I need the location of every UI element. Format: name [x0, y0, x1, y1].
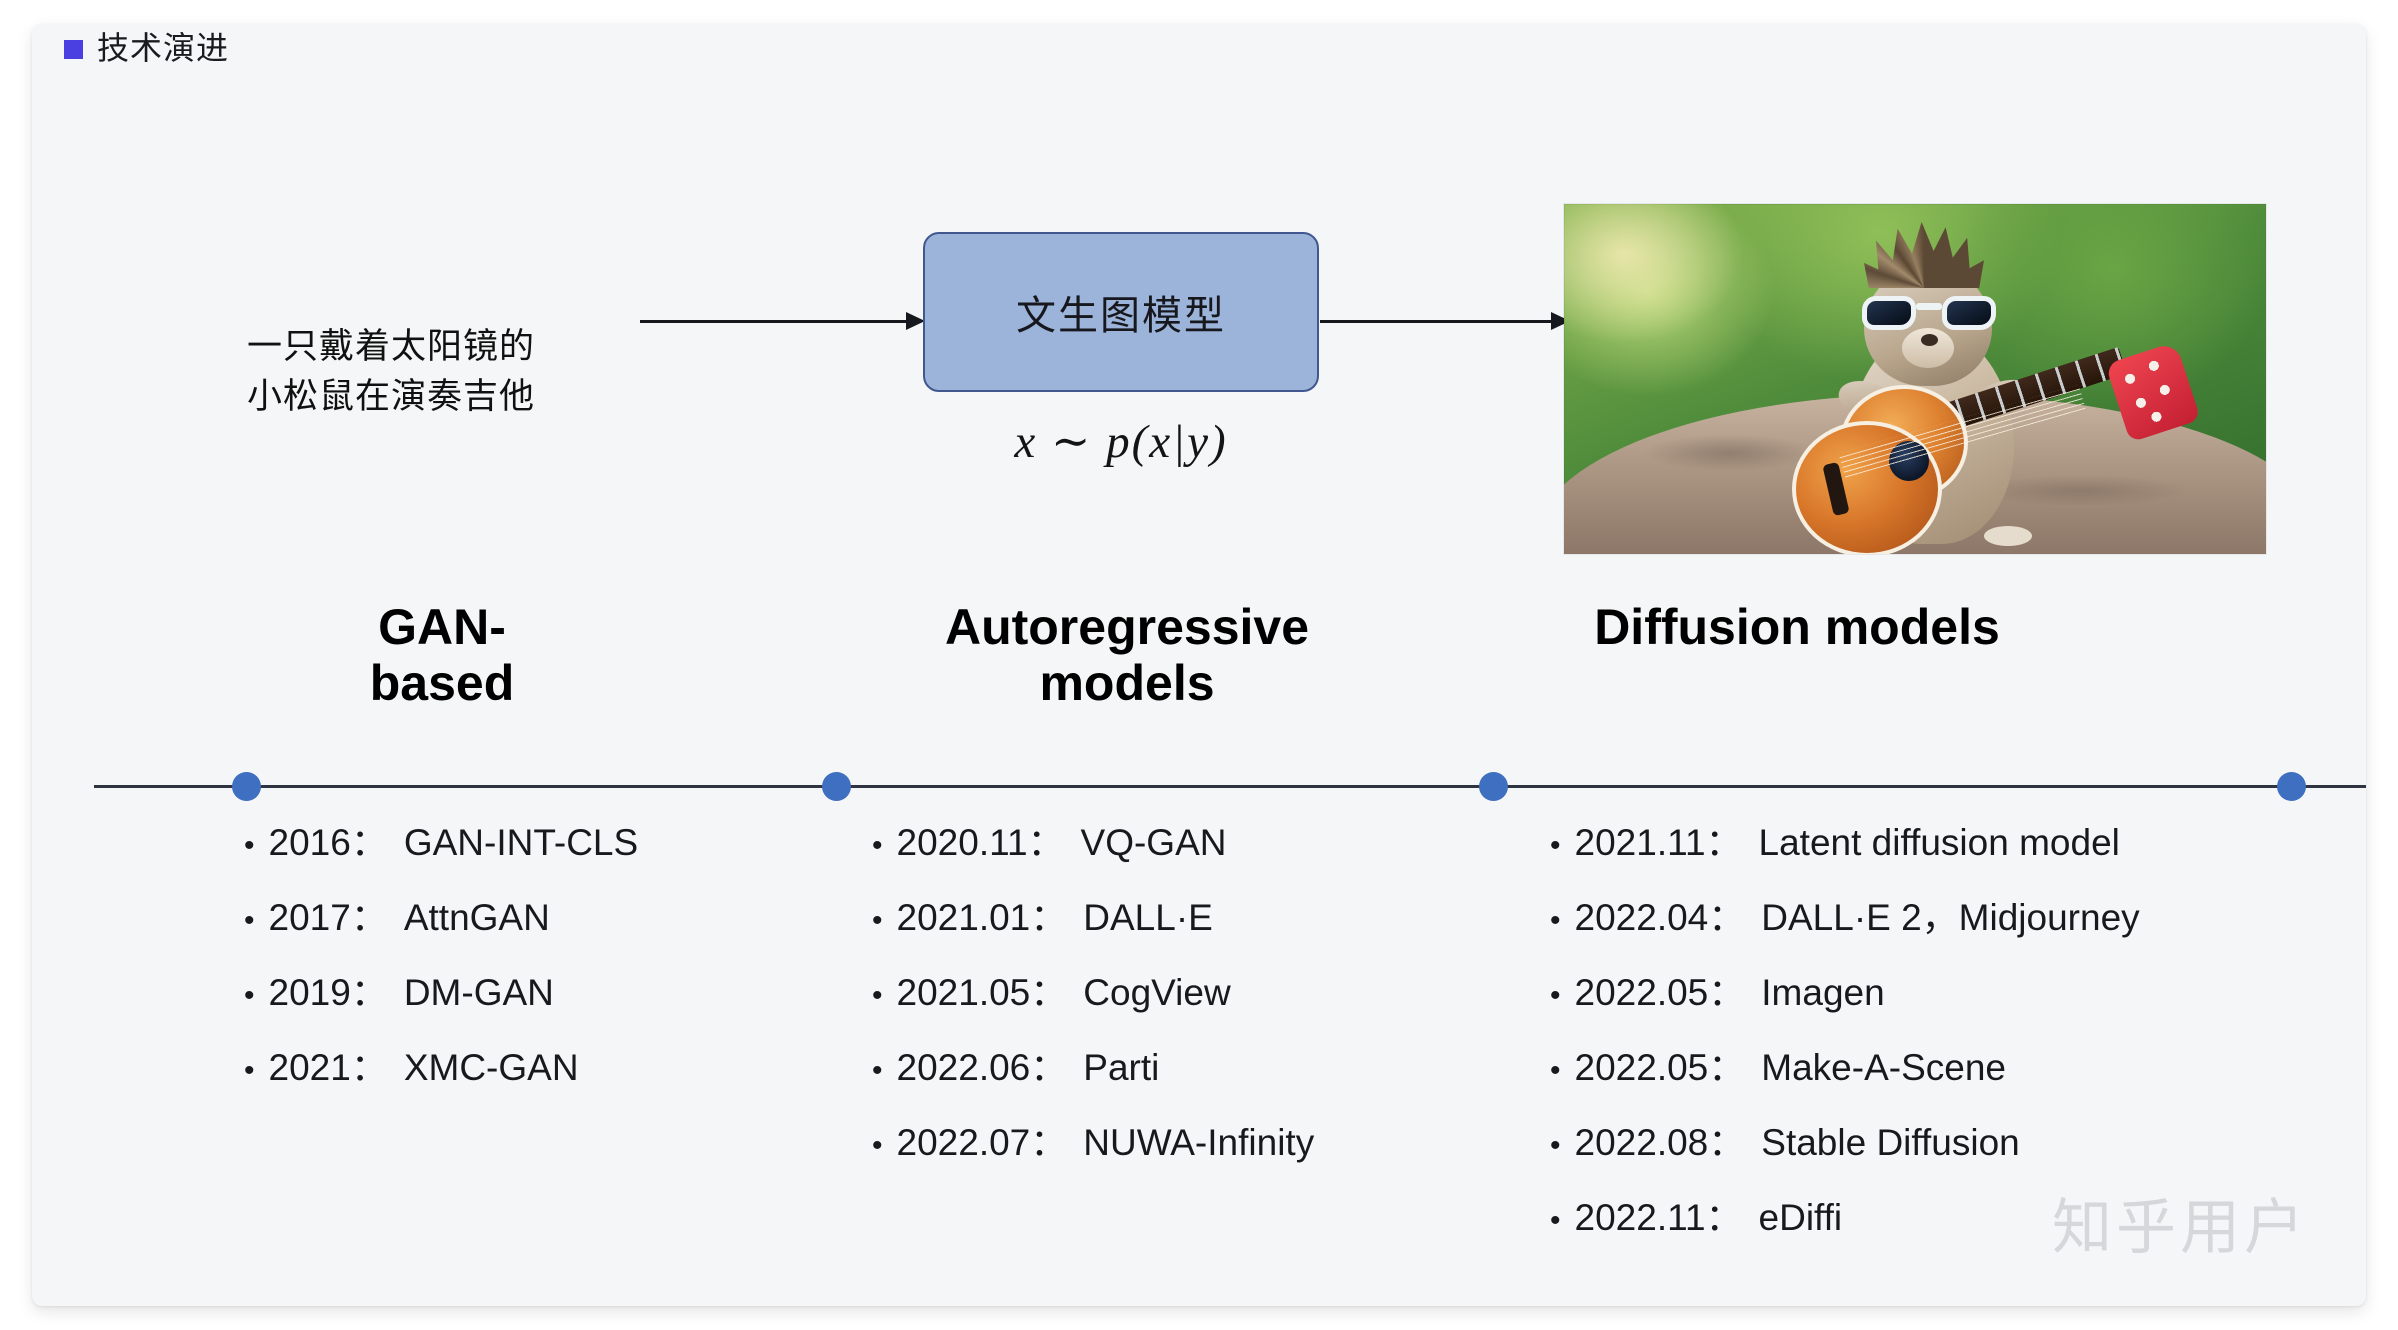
list-item-date: 2021.11： — [1575, 824, 1743, 861]
list-item-name: GAN-INT-CLS — [404, 824, 638, 861]
list-item: • 2022.08： Stable Diffusion — [1550, 1124, 2350, 1161]
list-item-name: VQ-GAN — [1081, 824, 1227, 861]
list-item-name: Stable Diffusion — [1761, 1124, 2019, 1161]
list-item-name: AttnGAN — [404, 899, 550, 936]
squirrel-nose — [1921, 334, 1938, 346]
list-item-date: 2016： — [269, 824, 388, 861]
generated-image — [1564, 204, 2266, 554]
model-formula: x ∼ p(x|y) — [923, 414, 1319, 469]
list-bullet-icon: • — [872, 1056, 883, 1086]
prompt-text: 一只戴着太阳镜的 小松鼠在演奏吉他 — [247, 322, 627, 421]
list-item: • 2022.05： Imagen — [1550, 974, 2350, 1011]
list-item: • 2022.06： Parti — [872, 1049, 1522, 1086]
arrow-right-icon-prompt-to-model — [640, 310, 925, 332]
list-bullet-icon: • — [872, 906, 883, 936]
list-item: • 2021.01： DALL·E — [872, 899, 1522, 936]
list-bullet-icon: • — [244, 981, 255, 1011]
sunglasses-bridge — [1916, 303, 1942, 310]
list-item-name: Latent diffusion model — [1759, 824, 2120, 861]
model-box-label: 文生图模型 — [1016, 283, 1226, 341]
list-bullet-icon: • — [244, 906, 255, 936]
list-item: • 2022.04： DALL·E 2，Midjourney — [1550, 899, 2350, 936]
title-bullet-square-icon — [64, 40, 83, 59]
prompt-line-2: 小松鼠在演奏吉他 — [247, 372, 627, 422]
list-bullet-icon: • — [244, 831, 255, 861]
list-item-name: DM-GAN — [404, 974, 554, 1011]
timeline-column-gan: • 2016： GAN-INT-CLS • 2017： AttnGAN • 20… — [244, 824, 764, 1124]
watermark: 知乎用户 — [2052, 1179, 2308, 1266]
list-item-date: 2020.11： — [897, 824, 1065, 861]
timeline-axis — [94, 785, 2366, 788]
formula-tilde: ∼ — [1051, 416, 1092, 468]
list-bullet-icon: • — [1550, 831, 1561, 861]
list-bullet-icon: • — [1550, 906, 1561, 936]
list-bullet-icon: • — [1550, 981, 1561, 1011]
list-item-name: eDiffi — [1759, 1199, 1843, 1236]
formula-p: p(x|y) — [1106, 416, 1227, 468]
model-box: 文生图模型 — [923, 232, 1319, 392]
timeline-headings: GAN-based Autoregressive models Diffusio… — [32, 599, 2366, 754]
arrow-shaft — [1320, 320, 1553, 323]
timeline-heading-gan: GAN-based — [342, 599, 542, 711]
list-item: • 2021： XMC-GAN — [244, 1049, 764, 1086]
arrow-right-icon-model-to-image — [1320, 310, 1570, 332]
formula-x: x — [1014, 416, 1037, 468]
list-item-date: 2022.06： — [897, 1049, 1068, 1086]
slide-title: 技术演进 — [64, 32, 229, 64]
list-bullet-icon: • — [244, 1056, 255, 1086]
list-item-name: DALL·E 2，Midjourney — [1761, 899, 2139, 936]
list-item: • 2022.07： NUWA-Infinity — [872, 1124, 1522, 1161]
list-item-name: NUWA-Infinity — [1083, 1124, 1314, 1161]
timeline-dot-1 — [232, 772, 261, 801]
list-item: • 2020.11： VQ-GAN — [872, 824, 1522, 861]
list-bullet-icon: • — [1550, 1131, 1561, 1161]
list-item-name: Imagen — [1761, 974, 1884, 1011]
sunglasses-lens-right — [1942, 296, 1996, 330]
list-item-name: XMC-GAN — [404, 1049, 579, 1086]
page-title: 技术演进 — [97, 32, 229, 64]
pipeline-diagram: 一只戴着太阳镜的 小松鼠在演奏吉他 文生图模型 x ∼ p(x|y) — [32, 84, 2366, 504]
list-item-name: Parti — [1083, 1049, 1159, 1086]
list-item-date: 2022.05： — [1575, 974, 1746, 1011]
list-item: • 2016： GAN-INT-CLS — [244, 824, 764, 861]
list-bullet-icon: • — [872, 831, 883, 861]
list-bullet-icon: • — [872, 1131, 883, 1161]
list-item-date: 2022.04： — [1575, 899, 1746, 936]
prompt-line-1: 一只戴着太阳镜的 — [247, 322, 627, 372]
list-item-date: 2017： — [269, 899, 388, 936]
list-item: • 2019： DM-GAN — [244, 974, 764, 1011]
list-bullet-icon: • — [1550, 1056, 1561, 1086]
timeline-heading-autoregressive: Autoregressive models — [902, 599, 1352, 711]
list-item-date: 2019： — [269, 974, 388, 1011]
list-item: • 2022.05： Make-A-Scene — [1550, 1049, 2350, 1086]
sunglasses-lens-left — [1862, 296, 1916, 330]
image-light-flare — [1564, 204, 1744, 344]
list-item-date: 2021.01： — [897, 899, 1068, 936]
timeline-dot-3 — [1479, 772, 1508, 801]
list-item-name: DALL·E — [1083, 899, 1213, 936]
list-item-date: 2022.08： — [1575, 1124, 1746, 1161]
guitar — [1782, 379, 2252, 554]
list-item: • 2017： AttnGAN — [244, 899, 764, 936]
sunglasses-icon — [1862, 292, 1996, 334]
list-item-date: 2022.07： — [897, 1124, 1068, 1161]
timeline-dot-2 — [822, 772, 851, 801]
list-item-date: 2022.05： — [1575, 1049, 1746, 1086]
list-item-date: 2021.05： — [897, 974, 1068, 1011]
arrow-shaft — [640, 320, 908, 323]
timeline-heading-diffusion: Diffusion models — [1587, 599, 2007, 655]
list-item-date: 2022.11： — [1575, 1199, 1743, 1236]
list-item-name: Make-A-Scene — [1761, 1049, 2006, 1086]
timeline-dot-4 — [2277, 772, 2306, 801]
slide-card: 技术演进 一只戴着太阳镜的 小松鼠在演奏吉他 文生图模型 x ∼ p(x|y) — [32, 24, 2366, 1306]
list-item: • 2021.05： CogView — [872, 974, 1522, 1011]
list-bullet-icon: • — [1550, 1206, 1561, 1236]
list-item: • 2021.11： Latent diffusion model — [1550, 824, 2350, 861]
timeline-column-autoregressive: • 2020.11： VQ-GAN • 2021.01： DALL·E • 20… — [872, 824, 1522, 1199]
list-item-date: 2021： — [269, 1049, 388, 1086]
list-bullet-icon: • — [872, 981, 883, 1011]
list-item-name: CogView — [1083, 974, 1230, 1011]
